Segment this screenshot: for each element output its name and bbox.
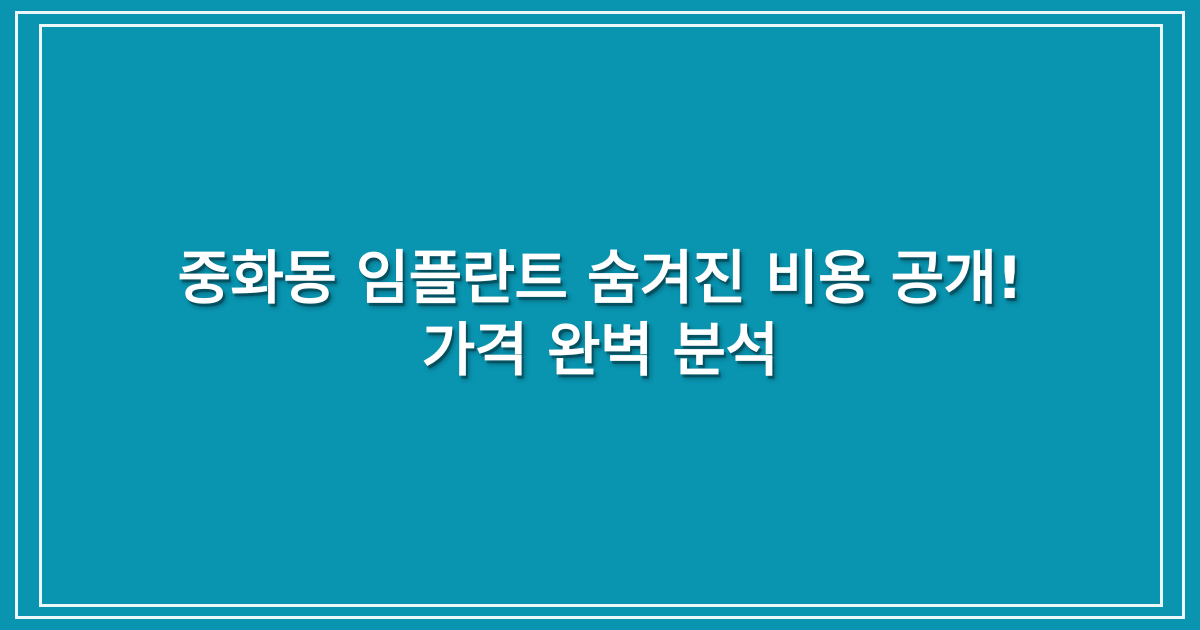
thumbnail-banner: 중화동 임플란트 숨겨진 비용 공개! 가격 완벽 분석 [0,0,1200,630]
banner-content: 중화동 임플란트 숨겨진 비용 공개! 가격 완벽 분석 [0,0,1200,630]
banner-title: 중화동 임플란트 숨겨진 비용 공개! 가격 완벽 분석 [170,243,1030,387]
